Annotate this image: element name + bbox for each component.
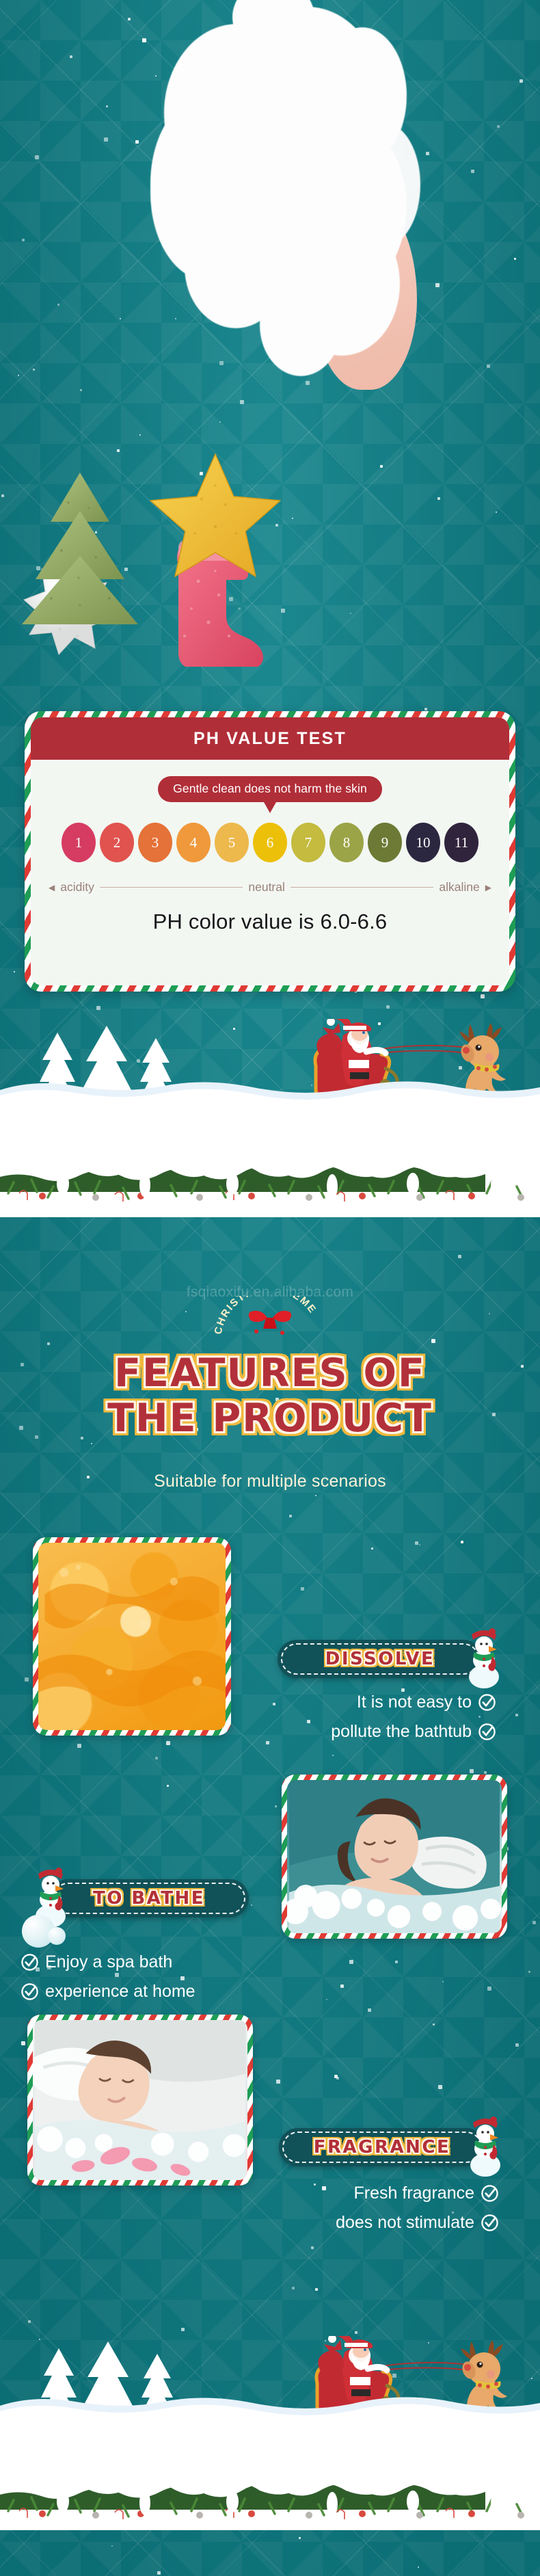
feature-to-bathe-line-1: Enjoy a spa bath: [45, 1948, 172, 1977]
ph-dot-label: 5: [228, 834, 236, 851]
christmas-tree-bath-bomb: [21, 468, 140, 626]
ph-callout-tail: [264, 802, 276, 813]
ph-dot-11: 11: [444, 823, 478, 862]
feature-text-dissolve: It is not easy to pollute the bathtub: [271, 1688, 496, 1747]
feature-dissolve-line-2: pollute the bathtub: [331, 1717, 472, 1747]
ph-axis: ◀ acidity neutral alkaline ▶: [49, 880, 491, 894]
check-circle-icon: [21, 1953, 39, 1971]
snowman-icon: [463, 2114, 507, 2177]
features-title: FEATURES OF THE PRODUCT: [0, 1351, 540, 1441]
check-circle-icon: [481, 2184, 499, 2203]
ph-dot-label: 2: [113, 834, 121, 851]
axis-left-arrow-icon: ◀: [49, 883, 55, 892]
ph-dot-3: 3: [138, 823, 172, 862]
ph-card-header: PH VALUE TEST: [31, 717, 509, 760]
ph-dot-label: 7: [305, 834, 312, 851]
feature-badge-to-bathe[interactable]: TO BATHE: [49, 1879, 249, 1917]
ph-callout-text: Gentle clean does not harm the skin: [158, 776, 382, 802]
features-title-line1: FEATURES OF: [0, 1351, 540, 1396]
ph-dot-label: 6: [267, 834, 274, 851]
feature-dissolve-line-1: It is not easy to: [357, 1688, 472, 1717]
feature-badge-fragrance-label: FRAGRANCE: [314, 2137, 451, 2157]
bath-bombs-group: [0, 349, 540, 704]
ph-axis-alkaline: alkaline: [439, 880, 479, 894]
ph-card-title: PH VALUE TEST: [193, 729, 347, 749]
star-bath-bomb: [147, 451, 284, 585]
ph-dot-1: 1: [62, 823, 96, 862]
ph-dot-label: 9: [381, 834, 389, 851]
ph-dot-label: 10: [416, 834, 431, 851]
ph-dot-label: 1: [75, 834, 83, 851]
axis-line-left: [100, 887, 243, 888]
ph-dot-label: 8: [343, 834, 351, 851]
foam-hand-image: [144, 0, 437, 369]
feature-fragrance-line-1: Fresh fragrance: [354, 2179, 474, 2208]
ph-axis-acidity: acidity: [60, 880, 94, 894]
ph-value-test-card: PH VALUE TEST Gentle clean does not harm…: [25, 711, 515, 992]
ph-scale: 1234567891011: [31, 823, 509, 862]
product-detail-page: PH VALUE TEST Gentle clean does not harm…: [0, 0, 540, 2576]
check-circle-icon: [478, 1693, 496, 1712]
axis-right-arrow-icon: ▶: [485, 883, 491, 892]
feature-badge-fragrance[interactable]: FRAGRANCE: [279, 2128, 485, 2166]
christmas-theme-stamp-icon: CHRISTMAS THEME: [208, 1296, 332, 1351]
ph-dot-10: 10: [406, 823, 440, 862]
ph-dot-label: 3: [152, 834, 159, 851]
feature-text-fragrance: Fresh fragrance does not stimulate: [273, 2179, 499, 2238]
ph-dot-9: 9: [368, 823, 402, 862]
feature-image-fragrance: [27, 2015, 253, 2186]
ph-dot-label: 4: [190, 834, 198, 851]
ph-dot-2: 2: [100, 823, 134, 862]
check-circle-icon: [481, 2214, 499, 2232]
ph-result-text: PH color value is 6.0-6.6: [31, 909, 509, 934]
ph-dot-4: 4: [176, 823, 211, 862]
check-circle-icon: [21, 1982, 39, 2001]
ph-axis-neutral: neutral: [248, 880, 285, 894]
ph-dot-6: 6: [253, 823, 287, 862]
feature-image-dissolve: [33, 1537, 231, 1736]
feature-badge-dissolve-label: DISSOLVE: [325, 1649, 435, 1669]
features-subtitle: Suitable for multiple scenarios: [0, 1472, 540, 1491]
feature-image-to-bathe: [282, 1775, 507, 1939]
ph-callout: Gentle clean does not harm the skin: [31, 776, 509, 802]
snowman-icon: [462, 1626, 506, 1689]
feature-badge-dissolve[interactable]: DISSOLVE: [278, 1640, 483, 1678]
feature-badge-to-bathe-label: TO BATHE: [93, 1888, 205, 1909]
features-title-line2: THE PRODUCT: [0, 1396, 540, 1441]
feature-text-to-bathe: Enjoy a spa bath experience at home: [21, 1948, 253, 2006]
ph-dot-8: 8: [329, 823, 364, 862]
hero-section: [0, 0, 540, 704]
feature-to-bathe-line-2: experience at home: [45, 1977, 195, 2006]
ph-dot-7: 7: [291, 823, 325, 862]
bubble-decoration: [48, 1927, 66, 1945]
axis-line-right: [291, 887, 434, 888]
feature-fragrance-line-2: does not stimulate: [336, 2208, 474, 2238]
ph-dot-label: 11: [455, 834, 468, 851]
ph-dot-5: 5: [215, 823, 249, 862]
check-circle-icon: [478, 1723, 496, 1741]
